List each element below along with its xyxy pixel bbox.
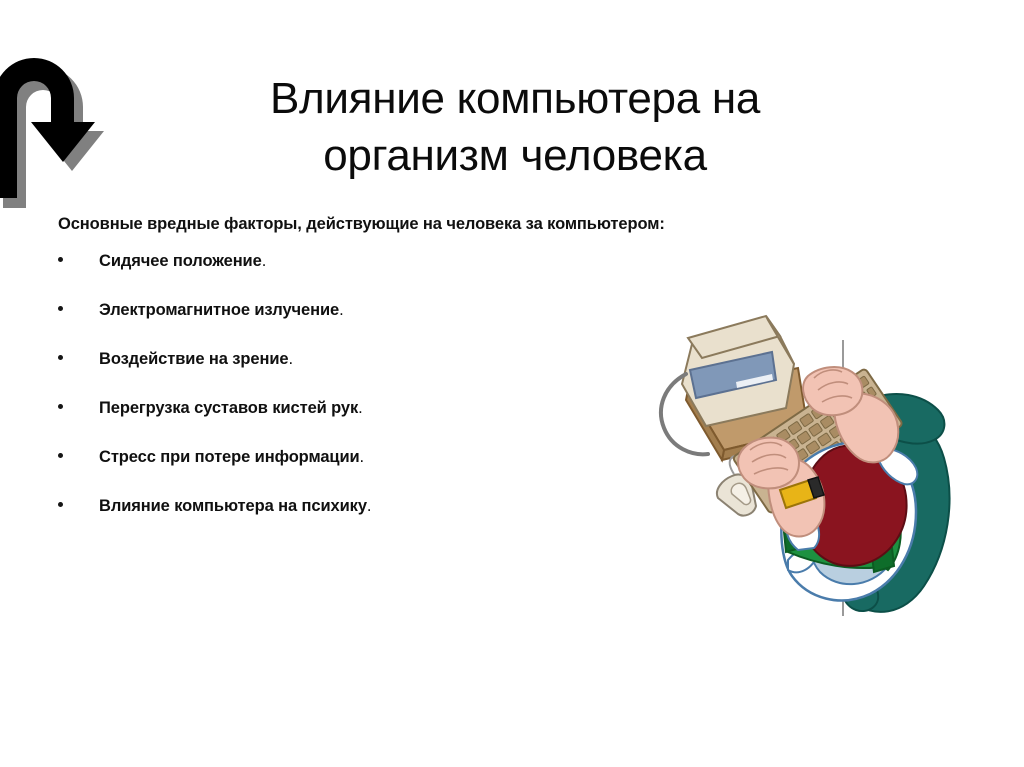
bullet-icon <box>58 453 63 458</box>
list-item-label: Электромагнитное излучение <box>99 301 339 319</box>
bullet-icon <box>58 404 63 409</box>
list-item-period: . <box>288 350 292 368</box>
intro-text: Основные вредные факторы, действующие на… <box>58 215 665 234</box>
list-item-label: Стресс при потере информации <box>99 448 360 466</box>
list-item: Электромагнитное излучение. <box>52 299 572 348</box>
list-item-period: . <box>339 301 343 319</box>
bullet-icon <box>58 355 63 360</box>
list-item: Сидячее положение. <box>52 250 572 299</box>
title-line-2: организм человека <box>323 131 707 180</box>
list-item-label: Воздействие на зрение <box>99 350 288 368</box>
list-item: Воздействие на зрение. <box>52 348 572 397</box>
list-item-label: Перегрузка суставов кистей рук <box>99 399 358 417</box>
u-turn-arrow-icon <box>0 58 124 208</box>
bullet-icon <box>58 502 63 507</box>
list-item-period: . <box>262 252 266 270</box>
list-item: Перегрузка суставов кистей рук. <box>52 397 572 446</box>
list-item-label: Влияние компьютера на психику <box>99 497 367 515</box>
page-title: Влияние компьютера на организм человека <box>150 71 880 184</box>
list-item-period: . <box>360 448 364 466</box>
list-item-label: Сидячее положение <box>99 252 262 270</box>
list-item-period: . <box>358 399 362 417</box>
title-line-1: Влияние компьютера на <box>270 74 760 123</box>
list-item: Влияние компьютера на психику. <box>52 495 572 544</box>
harmful-factors-list: Сидячее положение. Электромагнитное излу… <box>52 250 572 544</box>
bullet-icon <box>58 257 63 262</box>
right-hand <box>803 367 862 415</box>
left-hand <box>738 438 799 489</box>
list-item: Стресс при потере информации. <box>52 446 572 495</box>
monitor <box>682 316 794 426</box>
list-item-period: . <box>367 497 371 515</box>
bullet-icon <box>58 306 63 311</box>
slide-canvas: Влияние компьютера на организм человека … <box>0 0 1024 767</box>
u-turn-arrow-body <box>0 58 95 198</box>
person-at-computer-illustration <box>648 298 988 638</box>
